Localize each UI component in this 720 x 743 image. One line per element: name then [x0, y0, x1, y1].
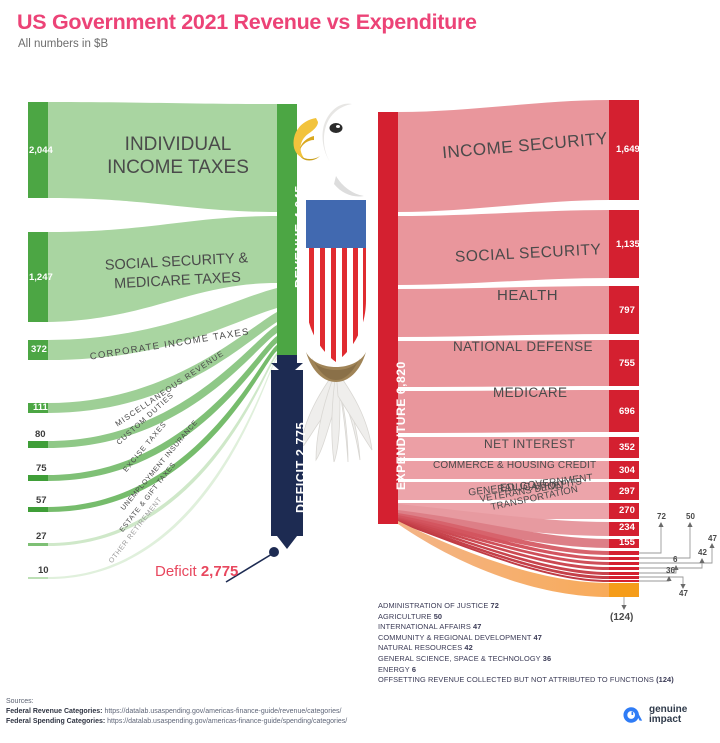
expenditure-link-education [398, 482, 609, 500]
legend-label: OFFSETTING REVENUE COLLECTED BUT NOT ATT… [378, 675, 654, 684]
expenditure-node-agriculture [609, 557, 639, 560]
legend-value: 72 [491, 601, 499, 610]
expenditure-link-group [398, 100, 609, 597]
expenditure-link-medicare [398, 390, 609, 433]
expenditure-node-education [609, 482, 639, 500]
legend-row: ADMINISTRATION OF JUSTICE 72 [378, 601, 718, 612]
expenditure-link-income-security [398, 100, 609, 212]
leader-value-agriculture: 50 [686, 512, 695, 521]
legend-value: 47 [534, 633, 542, 642]
revenue-node-corporate-income-taxes [28, 340, 48, 360]
leader-value-community-regional-development: 42 [698, 548, 707, 557]
leader-value-natural-resources: 6 [673, 555, 677, 564]
legend-value: 50 [434, 612, 442, 621]
expenditure-link-net-interest [398, 437, 609, 458]
deficit-leader-dot [269, 547, 279, 557]
legend-value: 6 [412, 665, 416, 674]
expenditure-node-general-science-space-technology [609, 576, 639, 579]
infographic-canvas: US Government 2021 Revenue vs Expenditur… [0, 0, 720, 743]
legend-row: OFFSETTING REVENUE COLLECTED BUT NOT ATT… [378, 675, 718, 686]
deficit-callout: Deficit 2,775 [155, 563, 238, 580]
legend-row: NATURAL RESOURCES 42 [378, 643, 718, 654]
source-revenue: Federal Revenue Categories: https://data… [6, 707, 347, 717]
expenditure-node-energy [609, 580, 639, 582]
expenditure-node-international-affairs [609, 562, 639, 565]
expenditure-node-group [609, 100, 639, 597]
source-revenue-url[interactable]: https://datalab.usaspending.gov/americas… [104, 708, 341, 715]
revenue-node-individual-income-taxes [28, 102, 48, 198]
leader-value-energy: 36 [666, 566, 675, 575]
expenditure-node-community-regional-development [609, 567, 639, 570]
legend-value: (124) [656, 675, 674, 684]
legend-label: NATURAL RESOURCES [378, 643, 462, 652]
revenue-node-group [28, 102, 48, 579]
expenditure-node-veterans-benefits [609, 522, 639, 536]
expenditure-node-social-security [609, 210, 639, 278]
leader-value-administration-of-justice: 72 [657, 512, 666, 521]
leader-value-general-science-space-technology: 47 [679, 589, 688, 598]
sources-block: Sources: Federal Revenue Categories: htt… [6, 697, 347, 727]
legend-label: COMMUNITY & REGIONAL DEVELOPMENT [378, 633, 531, 642]
center-label-expenditure: EXPENDITURE 6,820 [394, 361, 408, 490]
expenditure-node-natural-resources [609, 572, 639, 575]
legend-label: INTERNATIONAL AFFAIRS [378, 622, 471, 631]
revenue-node-excise-taxes [28, 475, 48, 481]
revenue-node-other-retirement [28, 577, 48, 579]
expenditure-node-administration-of-justice [609, 551, 639, 555]
legend-list: ADMINISTRATION OF JUSTICE 72 AGRICULTURE… [378, 601, 718, 686]
legend-value: 36 [543, 654, 551, 663]
deficit-callout-value: 2,775 [201, 563, 239, 580]
source-spending-url[interactable]: https://datalab.usaspending.gov/americas… [107, 718, 347, 725]
legend-label: ENERGY [378, 665, 410, 674]
source-spending: Federal Spending Categories: https://dat… [6, 717, 347, 727]
expenditure-link-social-security [398, 210, 609, 285]
expenditure-link-national-defense [398, 340, 609, 387]
revenue-link-individual-income-taxes [48, 102, 277, 212]
logo-line-2: impact [649, 715, 687, 725]
expenditure-node-net-interest [609, 437, 639, 458]
source-revenue-label: Federal Revenue Categories: [6, 708, 102, 715]
revenue-node-estate-gift-taxes [28, 543, 48, 546]
center-label-deficit: DEFICIT 2,775 [294, 422, 308, 513]
legend-value: 42 [464, 643, 472, 652]
expenditure-node-health [609, 286, 639, 334]
expenditure-node-offsetting-revenue [609, 583, 639, 597]
legend-row: INTERNATIONAL AFFAIRS 47 [378, 622, 718, 633]
expenditure-node-commerce-housing-credit [609, 461, 639, 479]
legend-label: AGRICULTURE [378, 612, 432, 621]
legend-value: 47 [473, 622, 481, 631]
sources-heading: Sources: [6, 697, 347, 707]
legend-row: COMMUNITY & REGIONAL DEVELOPMENT 47 [378, 633, 718, 644]
deficit-callout-prefix: Deficit [155, 563, 201, 580]
revenue-node-miscellaneous-revenue [28, 403, 48, 413]
leader-value-international-affairs: 47 [708, 534, 717, 543]
expenditure-node-transportation [609, 539, 639, 548]
expenditure-link-commerce-housing-credit [398, 461, 609, 479]
legend-row: GENERAL SCIENCE, SPACE & TECHNOLOGY 36 [378, 654, 718, 665]
revenue-node-custom-duties [28, 441, 48, 448]
legend-label: ADMINISTRATION OF JUSTICE [378, 601, 488, 610]
alpha-logo-icon [622, 704, 644, 726]
revenue-link-unemployment-insurance [48, 345, 277, 512]
center-label-revenue: REVENUE 4,045 [293, 185, 307, 288]
revenue-node-social-security-medicare [28, 232, 48, 322]
expenditure-link-health [398, 286, 609, 337]
genuine-impact-logo[interactable]: genuine impact [622, 704, 687, 726]
revenue-link-group [48, 102, 277, 579]
legend-row: AGRICULTURE 50 [378, 612, 718, 623]
legend-row: ENERGY 6 [378, 665, 718, 676]
expenditure-node-medicare [609, 390, 639, 432]
legend-label: GENERAL SCIENCE, SPACE & TECHNOLOGY [378, 654, 541, 663]
eagle-eye [330, 123, 343, 133]
source-spending-label: Federal Spending Categories: [6, 718, 105, 725]
revenue-node-unemployment-insurance [28, 507, 48, 512]
expenditure-node-income-security [609, 100, 639, 200]
expenditure-node-national-defense [609, 340, 639, 386]
expenditure-node-general-government [609, 503, 639, 519]
